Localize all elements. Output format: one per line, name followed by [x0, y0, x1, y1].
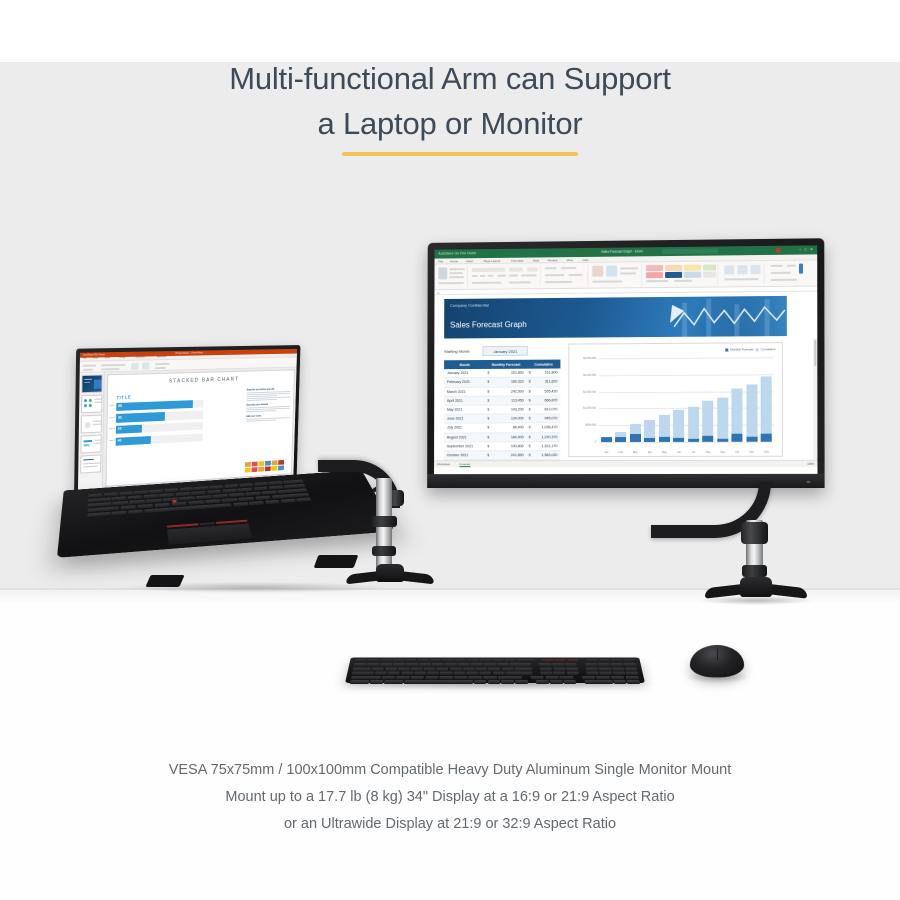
- chart-bar[interactable]: [601, 358, 612, 442]
- sheet-tab[interactable]: Forecast: [460, 462, 471, 467]
- ribbon-group-number[interactable]: [590, 264, 642, 285]
- chart-x-tick-label: Nov: [746, 451, 757, 454]
- chart-bar[interactable]: [746, 357, 757, 441]
- cell-month: April 2021: [444, 396, 485, 405]
- starting-month-label: Starting Month: [444, 349, 470, 354]
- bar-segment-cumulative: [717, 397, 728, 438]
- chart-y-tick-label: $500,000: [585, 424, 596, 427]
- chart-bar[interactable]: [673, 358, 684, 442]
- excel-status-bar[interactable]: Worksheet Forecast 100%: [434, 460, 817, 467]
- cell-month: January 2021: [444, 369, 485, 378]
- slide-thumbnail[interactable]: [81, 374, 102, 393]
- slide-thumbnail-panel[interactable]: [78, 372, 105, 490]
- laptop-pole-collar-upper[interactable]: [371, 516, 397, 527]
- keyboard-space-row: [350, 680, 640, 684]
- cell-forecast: 160,320: [491, 378, 526, 387]
- slide-chart-category-label: Item 4: [109, 440, 115, 442]
- column-header-month: Month: [444, 360, 485, 369]
- table-row[interactable]: April 2021$113,450$666,870: [444, 396, 560, 406]
- slide-chart-bar[interactable]: Item 440: [116, 433, 203, 446]
- slide-chart-category-label: Item 3: [109, 428, 115, 430]
- chart-bar[interactable]: [761, 357, 772, 441]
- table-row[interactable]: October 2021$241,850$1,563,020: [444, 451, 560, 460]
- zoom-level[interactable]: 100%: [807, 462, 814, 466]
- ribbon-group-alignment[interactable]: [543, 265, 589, 286]
- cell-month: March 2021: [444, 387, 485, 396]
- bar-segment-monthly-forecast: [615, 437, 626, 442]
- legend-label-monthly-forecast: Monthly Forecast: [730, 347, 753, 351]
- excel-account-avatar[interactable]: [776, 248, 781, 253]
- slide-text-block: Add your notes: [246, 413, 289, 422]
- tab-page-layout[interactable]: Page Layout: [484, 259, 501, 263]
- monitor-assembly: AutoSave On File Home Sales Forecast Gra…: [415, 232, 835, 592]
- starting-month-value[interactable]: January 2021: [483, 346, 529, 356]
- slide-title: STACKED BAR CHART: [108, 375, 294, 386]
- starting-month-control[interactable]: Starting Month January 2021: [444, 346, 528, 356]
- monitor-pole-collar-upper[interactable]: [741, 522, 768, 544]
- chart-x-tick-label: May: [659, 451, 670, 454]
- table-row[interactable]: May 2021$143,200$812,070: [444, 405, 560, 415]
- bar-segment-cumulative: [702, 401, 713, 436]
- bar-segment-monthly-forecast: [746, 437, 757, 442]
- ppt-tab-file[interactable]: File: [83, 358, 86, 360]
- cell-cumulative: 1,035,470: [533, 423, 561, 432]
- cell-cumulative: 1,220,370: [533, 432, 561, 441]
- slide-chart-bar[interactable]: Item 329: [116, 422, 203, 434]
- cell-cumulative: 535,420: [533, 386, 561, 395]
- tab-help[interactable]: Help: [582, 258, 588, 262]
- tab-file[interactable]: File: [438, 260, 443, 264]
- slide-thumbnail[interactable]: [80, 454, 101, 473]
- chart-x-axis-labels: JanFebMarAprMayJunJulAugSepOctNovDec: [599, 451, 774, 454]
- ppt-tab-transitions[interactable]: Transitions: [135, 357, 145, 359]
- bar-segment-cumulative: [673, 410, 684, 437]
- chart-bar[interactable]: [688, 358, 699, 442]
- excel-vertical-scrollbar[interactable]: [813, 338, 817, 460]
- chart-y-tick-label: $2,500,000: [583, 357, 596, 360]
- keyboard-number-row: [354, 663, 637, 666]
- table-row[interactable]: August 2021$184,900$1,220,370: [444, 432, 560, 441]
- chart-x-tick-label: Jun: [673, 451, 684, 454]
- laptop-tray-foot-left: [145, 575, 184, 587]
- slide-chart-value-label: 55: [118, 415, 122, 419]
- ribbon-group-editing[interactable]: [769, 263, 810, 284]
- table-row[interactable]: June 2021$134,000$945,070: [444, 414, 560, 424]
- table-row[interactable]: September 2021$100,800$1,321,170: [444, 441, 560, 450]
- cell-month: August 2021: [444, 432, 485, 441]
- cell-month: July 2021: [444, 423, 485, 432]
- product-photo-scene: Multi-functional Arm can Support a Lapto…: [0, 0, 900, 900]
- table-body: January 2021$151,800$151,800February 202…: [444, 369, 561, 468]
- legend-swatch-monthly-forecast: [726, 348, 729, 351]
- headline-line-1: Multi-functional Arm can Support: [229, 61, 671, 96]
- laptop-pole-collar-lower[interactable]: [372, 546, 396, 556]
- excel-search-box[interactable]: [662, 248, 718, 254]
- chart-x-tick-label: Mar: [630, 451, 641, 454]
- cell-forecast: 241,850: [491, 451, 526, 460]
- slide-chart-value-label: 40: [118, 439, 122, 443]
- chart-x-tick-label: Sep: [717, 451, 728, 454]
- cell-month: October 2021: [444, 451, 485, 460]
- bar-segment-monthly-forecast: [644, 438, 655, 442]
- mouse-button-split: [717, 649, 718, 661]
- bar-segment-monthly-forecast: [673, 437, 684, 442]
- cell-cumulative: 311,820: [533, 377, 561, 386]
- cell-forecast: 151,800: [491, 369, 526, 378]
- monitor-screen: AutoSave On File Home Sales Forecast Gra…: [434, 245, 817, 474]
- bar-segment-cumulative: [732, 389, 743, 434]
- slide-chart-value-label: 88: [118, 404, 122, 408]
- bar-segment-cumulative: [761, 376, 772, 434]
- window-controls[interactable]: – □ ✕: [799, 247, 814, 251]
- slide-chart-bar-fill: [116, 412, 165, 422]
- table-row[interactable]: July 2021$86,400$1,035,470: [444, 423, 560, 432]
- cell-forecast: 143,200: [491, 405, 526, 414]
- ppt-tab-insert[interactable]: Insert: [105, 358, 110, 360]
- chart-bar[interactable]: [615, 358, 626, 442]
- bar-segment-cumulative: [644, 420, 655, 439]
- slide-thumbnail[interactable]: [80, 434, 101, 453]
- cell-forecast: 242,500: [491, 387, 526, 396]
- power-led: [806, 481, 810, 483]
- chart-y-tick-label: $2,000,000: [583, 374, 596, 377]
- chart-x-tick-label: Apr: [644, 451, 655, 454]
- ppt-tab-animations[interactable]: Animations: [157, 356, 167, 358]
- status-left-label: Worksheet: [437, 462, 450, 466]
- report-banner: Company Confidential Sales Forecast Grap…: [444, 296, 787, 339]
- bar-segment-monthly-forecast: [688, 439, 699, 442]
- chart-x-tick-label: Jan: [601, 451, 612, 454]
- slide-chart-bar[interactable]: Item 188: [116, 399, 203, 411]
- bar-segment-monthly-forecast: [717, 438, 728, 441]
- cell-forecast: 100,800: [491, 441, 526, 450]
- ribbon-group-cells[interactable]: [722, 263, 764, 284]
- excel-title-center: Sales Forecast Graph - Excel: [601, 249, 642, 253]
- forecast-table[interactable]: Month Monthly Forecast Cumulative Januar…: [444, 360, 561, 468]
- cell-cumulative: 1,321,170: [533, 441, 561, 450]
- slide-color-chips: [245, 460, 288, 473]
- legend-label-cumulative: Cumulative: [761, 347, 776, 351]
- slide-text-block: Read the text before you edit: [247, 387, 291, 401]
- bar-segment-monthly-forecast: [702, 436, 713, 442]
- chart-x-tick-label: Oct: [732, 451, 743, 454]
- monitor-base-shadow: [700, 596, 812, 605]
- column-header-cumulative: Cumulative: [527, 360, 561, 369]
- ppt-title-center: Presentation1 - PowerPoint: [176, 351, 203, 354]
- headline: Multi-functional Arm can Support a Lapto…: [0, 56, 900, 146]
- laptop-mount-pole: [376, 478, 392, 576]
- forecast-chart[interactable]: Monthly Forecast Cumulative $2,500,000$2…: [568, 342, 783, 457]
- ppt-tab-design[interactable]: Design: [119, 357, 125, 359]
- ppt-title-left: AutoSave File Home: [83, 353, 105, 356]
- bar-segment-monthly-forecast: [761, 433, 772, 441]
- bar-segment-monthly-forecast: [659, 437, 670, 442]
- chart-y-tick-label: 0: [595, 441, 596, 444]
- slide-chart-value-label: 29: [118, 427, 122, 431]
- legend-swatch-cumulative: [756, 348, 759, 351]
- cell-cumulative: 945,070: [533, 414, 561, 423]
- tab-insert[interactable]: Insert: [466, 259, 473, 263]
- caption-line-1: VESA 75x75mm / 100x100mm Compatible Heav…: [0, 757, 900, 784]
- ribbon-group-font[interactable]: [470, 265, 541, 287]
- table-row[interactable]: March 2021$242,500$535,420: [444, 386, 560, 396]
- slide-chart-category-label: Item 2: [110, 417, 116, 419]
- chart-y-tick-label: $1,000,000: [583, 407, 596, 410]
- cell-month: September 2021: [444, 442, 485, 451]
- cell-forecast: 86,400: [491, 423, 526, 432]
- chart-y-tick-label: $1,500,000: [583, 390, 596, 393]
- slide-chart-category-label: Item 1: [110, 405, 116, 407]
- slide-thumbnail[interactable]: [80, 414, 101, 433]
- caption-line-2: Mount up to a 17.7 lb (8 kg) 34" Display…: [0, 784, 900, 811]
- laptop-screen: AutoSave File Home Presentation1 - Power…: [78, 349, 297, 491]
- laptop-assembly: AutoSave File Home Presentation1 - Power…: [60, 350, 420, 620]
- slide-thumbnail[interactable]: [81, 394, 102, 413]
- bar-segment-cumulative: [630, 424, 641, 434]
- slide-chart-bar[interactable]: Item 255: [116, 411, 203, 423]
- chart-bar[interactable]: [702, 358, 713, 442]
- chart-bar[interactable]: [630, 358, 641, 442]
- keyboard-function-row: [355, 659, 636, 662]
- bar-segment-cumulative: [688, 407, 699, 439]
- bar-segment-monthly-forecast: [630, 434, 641, 442]
- chart-x-tick-label: Dec: [761, 451, 772, 454]
- caption: VESA 75x75mm / 100x100mm Compatible Heav…: [0, 757, 900, 838]
- desktop-keyboard[interactable]: [345, 658, 645, 683]
- chart-bars: [599, 357, 774, 442]
- laptop-mount-base: [348, 564, 432, 588]
- accent-underline: [342, 152, 578, 156]
- slide-chart-bar-fill: [116, 400, 193, 411]
- slide-bar-chart: TITLE Item 188Item 255Item 329Item 440: [116, 392, 204, 449]
- report-title: Sales Forecast Graph: [450, 320, 527, 330]
- chart-bar[interactable]: [659, 358, 670, 442]
- caption-line-3: or an Ultrawide Display at 21:9 or 32:9 …: [0, 811, 900, 838]
- cell-cumulative: 1,563,020: [533, 451, 561, 460]
- chart-x-tick-label: Jul: [688, 451, 699, 454]
- bar-segment-monthly-forecast: [601, 437, 612, 442]
- tab-data[interactable]: Data: [533, 258, 539, 262]
- headline-line-2: a Laptop or Monitor: [0, 101, 900, 146]
- cell-month: May 2021: [444, 405, 485, 414]
- cell-forecast: 134,000: [491, 414, 526, 423]
- ribbon-group-clipboard[interactable]: [436, 266, 467, 287]
- banner-zigzag-artwork: [668, 296, 787, 337]
- cell-forecast: 113,450: [491, 396, 526, 405]
- cell-month: June 2021: [444, 414, 485, 423]
- chart-legend: Monthly Forecast Cumulative: [726, 347, 776, 351]
- keyboard-top-row: [353, 667, 638, 670]
- chart-bar[interactable]: [644, 358, 655, 442]
- cell-cumulative: 666,870: [533, 396, 561, 405]
- cell-forecast: 184,900: [491, 432, 526, 441]
- chart-x-tick-label: Feb: [615, 451, 626, 454]
- excel-worksheet[interactable]: Company Confidential Sales Forecast Grap…: [434, 292, 817, 468]
- keyboard-home-row: [352, 672, 638, 675]
- chart-bar[interactable]: [732, 357, 743, 441]
- bar-segment-monthly-forecast: [732, 434, 743, 442]
- bar-segment-cumulative: [659, 415, 670, 438]
- active-slide[interactable]: STACKED BAR CHART TITLE Item 188Item 255…: [106, 369, 295, 486]
- top-white-band: [0, 0, 900, 62]
- tab-review[interactable]: Review: [548, 258, 558, 262]
- slide-text-column: Read the text before you edit Describe y…: [246, 387, 290, 424]
- bar-segment-cumulative: [746, 384, 757, 437]
- keyboard-bottom-row: [351, 676, 639, 679]
- cell-month: February 2021: [444, 378, 485, 387]
- cell-cumulative: 812,070: [533, 405, 561, 414]
- column-header-monthly-forecast: Monthly Forecast: [485, 360, 526, 369]
- powerpoint-workspace: STACKED BAR CHART TITLE Item 188Item 255…: [78, 368, 297, 491]
- excel-title-left: AutoSave On File Home: [438, 251, 476, 255]
- ppt-tab-home[interactable]: Home: [92, 358, 98, 360]
- cell-cumulative: 151,800: [533, 369, 561, 378]
- monitor-bezel: AutoSave On File Home Sales Forecast Gra…: [427, 238, 824, 488]
- chart-bar[interactable]: [717, 358, 728, 442]
- tab-view[interactable]: View: [566, 258, 572, 262]
- ribbon-group-styles[interactable]: [644, 263, 718, 285]
- tab-formulas[interactable]: Formulas: [511, 259, 523, 263]
- chart-x-tick-label: Aug: [702, 451, 713, 454]
- chart-plot-area: $2,500,000$2,000,000$1,500,000$1,000,000…: [599, 357, 774, 442]
- desk-surface: [0, 590, 900, 900]
- excel-ribbon[interactable]: [434, 260, 817, 290]
- slide-text-block: Describe your element: [246, 402, 290, 412]
- confidential-label: Company Confidential: [450, 303, 489, 308]
